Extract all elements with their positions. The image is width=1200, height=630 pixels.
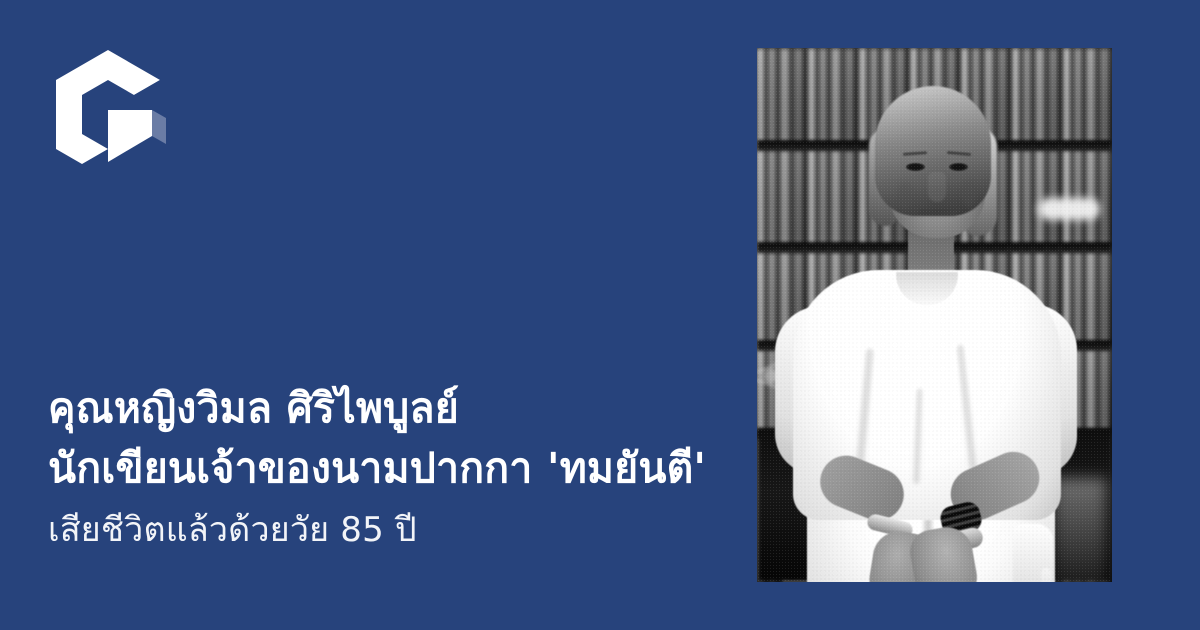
portrait-subject xyxy=(757,48,1112,582)
chair-sash-tail xyxy=(1041,568,1051,582)
headline-line-1: คุณหญิงวิมล ศิริไพบูลย์ xyxy=(48,378,728,438)
brand-logo[interactable] xyxy=(48,48,168,168)
news-share-card: คุณหญิงวิมล ศิริไพบูลย์ นักเขียนเจ้าของน… xyxy=(0,0,1200,630)
headline-block: คุณหญิงวิมล ศิริไพบูลย์ นักเขียนเจ้าของน… xyxy=(48,378,728,558)
eye-left xyxy=(906,163,925,171)
portrait-photo xyxy=(757,48,1112,582)
cheek-right xyxy=(961,182,977,208)
cheek-left xyxy=(897,182,913,208)
nose xyxy=(928,172,946,202)
eye-right xyxy=(949,163,968,171)
hexagon-c-logo-icon xyxy=(48,48,168,168)
subheadline-line-1: เสียชีวิตแล้วด้วยวัย 85 ปี xyxy=(48,502,728,558)
headline-line-2: นักเขียนเจ้าของนามปากกา 'ทมยันตี' xyxy=(48,438,728,498)
mouth xyxy=(919,209,957,215)
portrait-photo-stage xyxy=(757,48,1112,582)
